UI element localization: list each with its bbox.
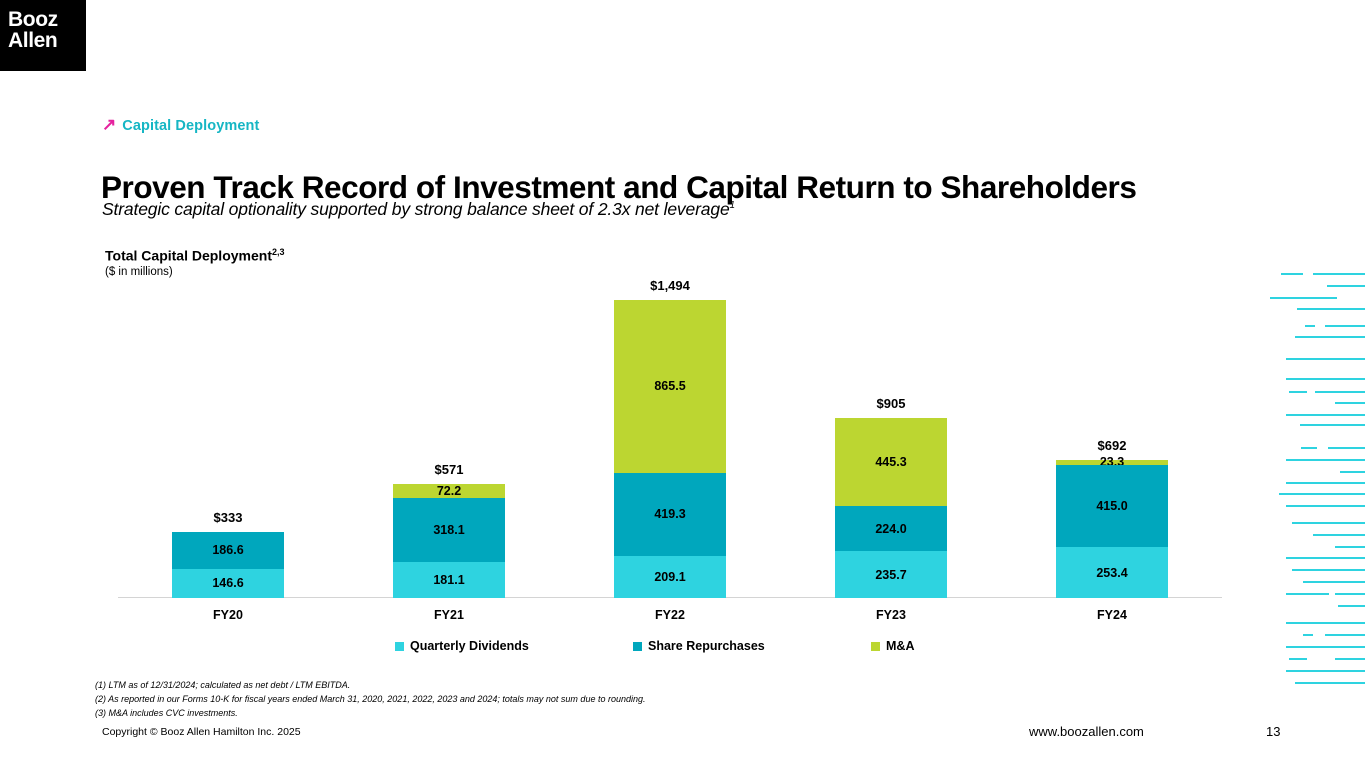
decorative-line — [1289, 658, 1307, 660]
legend-item[interactable]: Share Repurchases — [633, 639, 765, 653]
bar-segment-value: 318.1 — [433, 523, 464, 537]
bar-segment[interactable]: 235.7 — [835, 551, 947, 598]
copyright-text: Copyright © Booz Allen Hamilton Inc. 202… — [102, 726, 301, 738]
decorative-line — [1335, 593, 1365, 595]
chart-units-label: ($ in millions) — [105, 266, 173, 278]
decorative-line — [1338, 605, 1365, 607]
decorative-line — [1286, 646, 1365, 648]
chart-title-text: Total Capital Deployment — [105, 248, 272, 264]
decorative-line — [1286, 505, 1365, 507]
page-number: 13 — [1266, 724, 1280, 739]
bar-group-fy23: 445.3224.0235.7$905FY23 — [835, 300, 947, 598]
bar-segment[interactable]: 318.1 — [393, 498, 505, 561]
x-axis-tick-label: FY23 — [835, 608, 947, 622]
decorative-line — [1279, 493, 1303, 495]
bar-segment[interactable]: 209.1 — [614, 556, 726, 598]
bar-segment-value: 235.7 — [875, 568, 906, 582]
decorative-line-pattern — [1270, 265, 1365, 685]
bar-stack: 865.5419.3209.1 — [614, 300, 726, 598]
stacked-bar-chart: 186.6146.6$333FY2072.2318.1181.1$571FY21… — [118, 300, 1222, 598]
decorative-line — [1289, 391, 1307, 393]
bar-segment-value: 253.4 — [1096, 566, 1127, 580]
decorative-line — [1286, 459, 1365, 461]
decorative-line — [1301, 447, 1317, 449]
decorative-line — [1295, 682, 1365, 684]
x-axis-tick-label: FY24 — [1056, 608, 1168, 622]
logo-wordmark: Booz Allen — [8, 10, 58, 51]
eyebrow: ↗ Capital Deployment — [102, 117, 259, 134]
bar-segment-value: 72.2 — [393, 484, 505, 498]
legend-item[interactable]: M&A — [871, 639, 914, 653]
x-axis-tick-label: FY22 — [614, 608, 726, 622]
decorative-line — [1286, 358, 1365, 360]
website-link[interactable]: www.boozallen.com — [1029, 724, 1144, 739]
bar-stack: 72.2318.1181.1 — [393, 484, 505, 598]
bar-segment[interactable]: 224.0 — [835, 506, 947, 551]
decorative-line — [1286, 493, 1365, 495]
legend-item[interactable]: Quarterly Dividends — [395, 639, 529, 653]
bar-segment-value: 181.1 — [433, 573, 464, 587]
decorative-line — [1286, 670, 1365, 672]
decorative-line — [1286, 622, 1365, 624]
decorative-line — [1286, 414, 1365, 416]
decorative-line — [1313, 273, 1365, 275]
footnotes: (1) LTM as of 12/31/2024; calculated as … — [95, 678, 646, 721]
bar-total-label: $692 — [1056, 438, 1168, 453]
decorative-line — [1325, 325, 1365, 327]
bar-group-fy24: 23.3415.0253.4$692FY24 — [1056, 300, 1168, 598]
bar-segment[interactable]: 415.0 — [1056, 465, 1168, 548]
page-subtitle-text: Strategic capital optionality supported … — [102, 199, 730, 219]
bar-segment[interactable]: 253.4 — [1056, 547, 1168, 598]
decorative-line — [1292, 569, 1365, 571]
decorative-line — [1286, 557, 1365, 559]
decorative-line — [1335, 402, 1365, 404]
bar-segment-value: 419.3 — [654, 507, 685, 521]
bar-segment-value: 415.0 — [1096, 499, 1127, 513]
footnote-line: (3) M&A includes CVC investments. — [95, 706, 646, 720]
decorative-line — [1327, 285, 1365, 287]
bar-group-fy21: 72.2318.1181.1$571FY21 — [393, 300, 505, 598]
decorative-line — [1315, 391, 1365, 393]
bar-segment[interactable]: 445.3 — [835, 418, 947, 507]
arrow-up-right-icon: ↗ — [102, 116, 116, 133]
decorative-line — [1335, 658, 1365, 660]
x-axis-tick-label: FY21 — [393, 608, 505, 622]
legend-swatch-icon — [633, 642, 642, 651]
decorative-line — [1281, 273, 1303, 275]
bar-segment-value: 186.6 — [212, 543, 243, 557]
eyebrow-label: Capital Deployment — [122, 118, 259, 134]
bar-total-label: $1,494 — [614, 278, 726, 293]
bar-segment-value: 209.1 — [654, 570, 685, 584]
decorative-line — [1335, 546, 1365, 548]
decorative-line — [1295, 336, 1365, 338]
legend-label: M&A — [886, 639, 914, 653]
legend-label: Share Repurchases — [648, 639, 765, 653]
bar-segment[interactable]: 181.1 — [393, 562, 505, 598]
chart-legend: Quarterly DividendsShare RepurchasesM&A — [395, 638, 995, 654]
bar-stack: 23.3415.0253.4 — [1056, 460, 1168, 598]
decorative-line — [1297, 308, 1365, 310]
booz-allen-logo: Booz Allen — [0, 0, 86, 71]
bar-segment[interactable]: 186.6 — [172, 532, 284, 569]
bar-segment[interactable]: 72.2 — [393, 484, 505, 498]
decorative-line — [1313, 534, 1365, 536]
decorative-line — [1286, 593, 1329, 595]
decorative-line — [1305, 325, 1315, 327]
footnote-line: (2) As reported in our Forms 10-K for fi… — [95, 692, 646, 706]
decorative-line — [1300, 424, 1365, 426]
legend-label: Quarterly Dividends — [410, 639, 529, 653]
decorative-line — [1303, 634, 1313, 636]
decorative-line — [1325, 634, 1365, 636]
bar-group-fy22: 865.5419.3209.1$1,494FY22 — [614, 300, 726, 598]
decorative-line — [1286, 378, 1365, 380]
bar-total-label: $333 — [172, 510, 284, 525]
bar-segment[interactable]: 419.3 — [614, 473, 726, 557]
decorative-line — [1303, 581, 1365, 583]
bar-total-label: $571 — [393, 462, 505, 477]
x-axis-tick-label: FY20 — [172, 608, 284, 622]
chart-title-footnote-marker: 2,3 — [272, 247, 285, 257]
bar-segment-value: 445.3 — [875, 455, 906, 469]
footnote-line: (1) LTM as of 12/31/2024; calculated as … — [95, 678, 646, 692]
bar-segment[interactable]: 865.5 — [614, 300, 726, 473]
bar-stack: 186.6146.6 — [172, 532, 284, 598]
legend-swatch-icon — [871, 642, 880, 651]
page-subtitle: Strategic capital optionality supported … — [102, 199, 735, 220]
bar-group-fy20: 186.6146.6$333FY20 — [172, 300, 284, 598]
bar-segment-value: 224.0 — [875, 522, 906, 536]
legend-swatch-icon — [395, 642, 404, 651]
bar-segment[interactable]: 146.6 — [172, 569, 284, 598]
bar-stack: 445.3224.0235.7 — [835, 418, 947, 598]
bar-segment-value: 146.6 — [212, 576, 243, 590]
decorative-line — [1292, 522, 1365, 524]
page-subtitle-footnote-marker: 1 — [730, 200, 735, 211]
decorative-line — [1328, 447, 1365, 449]
decorative-line — [1340, 471, 1365, 473]
bar-total-label: $905 — [835, 396, 947, 411]
decorative-line — [1270, 297, 1337, 299]
chart-title: Total Capital Deployment2,3 — [105, 247, 285, 264]
decorative-line — [1286, 482, 1365, 484]
bar-segment-value: 865.5 — [654, 379, 685, 393]
